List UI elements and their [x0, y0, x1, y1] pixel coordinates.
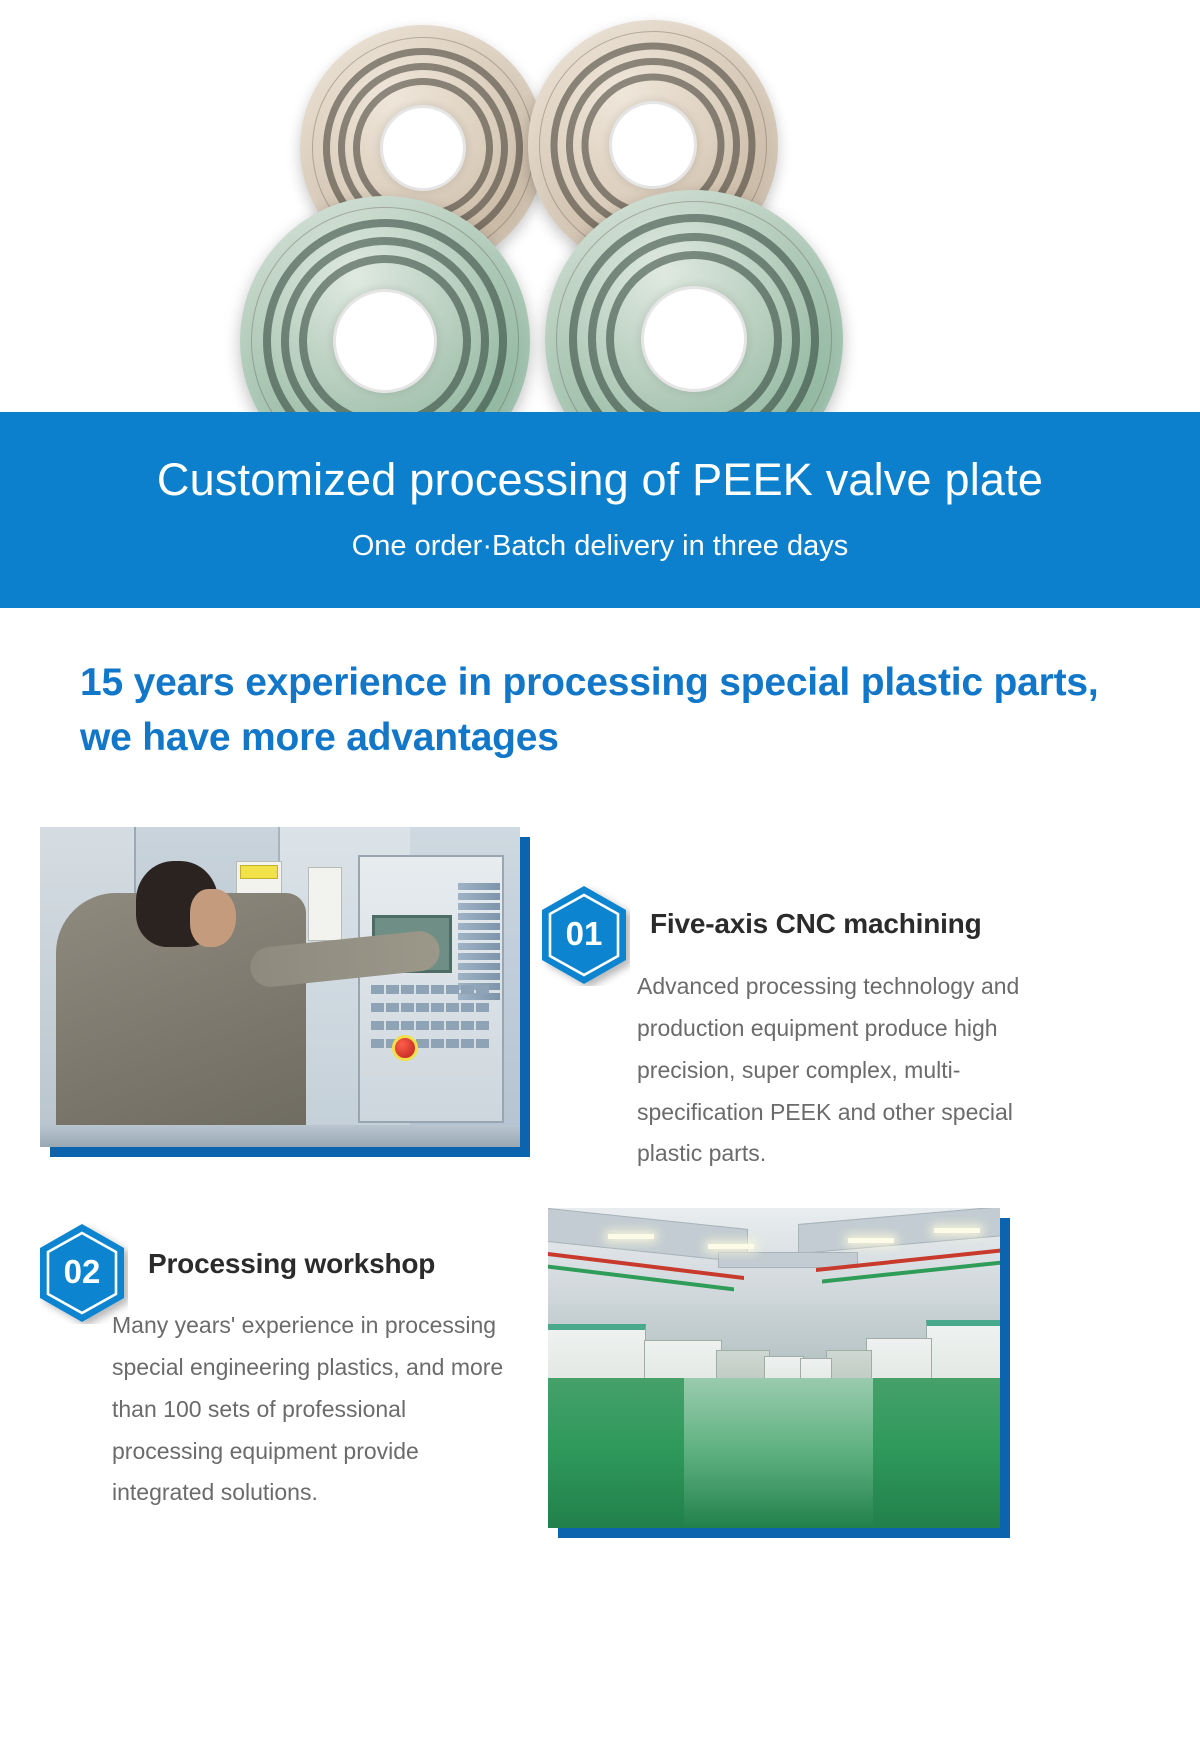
feature-body-01: Advanced processing technology and produ… — [637, 966, 1077, 1175]
banner-title: Customized processing of PEEK valve plat… — [0, 455, 1200, 505]
feature-body-02: Many years' experience in processing spe… — [112, 1305, 522, 1514]
feature-title-02: Processing workshop — [148, 1248, 528, 1280]
hero-product-image — [0, 0, 1200, 430]
feature-badge-01: 01 — [538, 884, 630, 986]
photo-frame — [548, 1208, 1000, 1528]
workshop-photo — [548, 1208, 1000, 1528]
banner-subtitle: One order·Batch delivery in three days — [0, 531, 1200, 563]
cnc-machine-photo — [40, 827, 520, 1147]
feature-title-01: Five-axis CNC machining — [650, 908, 1080, 940]
photo-frame — [40, 827, 520, 1147]
section-headline: 15 years experience in processing specia… — [80, 655, 1120, 766]
feature-badge-01-number: 01 — [538, 884, 630, 986]
hero-banner: Customized processing of PEEK valve plat… — [0, 412, 1200, 608]
